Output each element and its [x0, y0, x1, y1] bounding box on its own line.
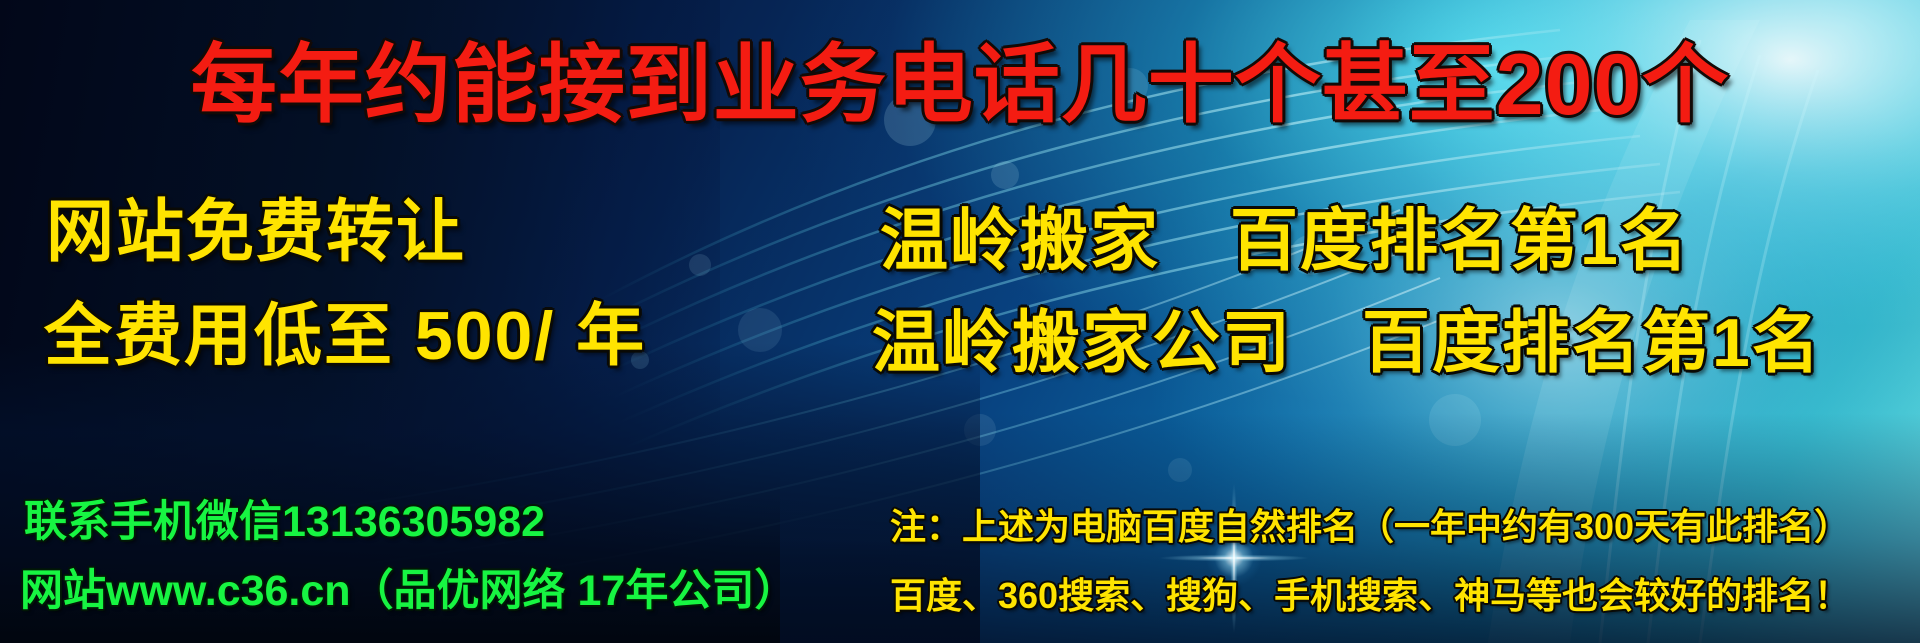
background-bottom-shade — [0, 343, 980, 643]
note-line-1: 注：上述为电脑百度自然排名（一年中约有300天有此排名） — [890, 498, 1850, 550]
background-swoosh-graphic — [0, 0, 1920, 643]
background-bottom-right-shade — [780, 413, 1920, 643]
lens-flare-star-icon — [1232, 556, 1235, 559]
offer-left-line-2: 全费用低至 500/ 年 — [44, 280, 646, 379]
note-line-2: 百度、360搜索、搜狗、手机搜索、神马等也会较好的排名！ — [890, 567, 1850, 619]
headline: 每年约能接到业务电话几十个甚至200个 — [0, 14, 1920, 139]
offer-right-line-2: 温岭搬家公司 百度排名第1名 — [872, 287, 1822, 386]
lens-flare-core — [1206, 530, 1262, 586]
promo-banner: 每年约能接到业务电话几十个甚至200个 网站免费转让 全费用低至 500/ 年 … — [0, 0, 1920, 643]
offer-right-line-1: 温岭搬家 百度排名第1名 — [880, 185, 1690, 284]
contact-phone-wechat: 联系手机微信13136305982 — [24, 487, 545, 549]
offer-left-line-1: 网站免费转让 — [46, 176, 466, 275]
contact-website: 网站www.c36.cn（品优网络 17年公司） — [20, 556, 797, 618]
background-left-shade — [0, 0, 720, 643]
